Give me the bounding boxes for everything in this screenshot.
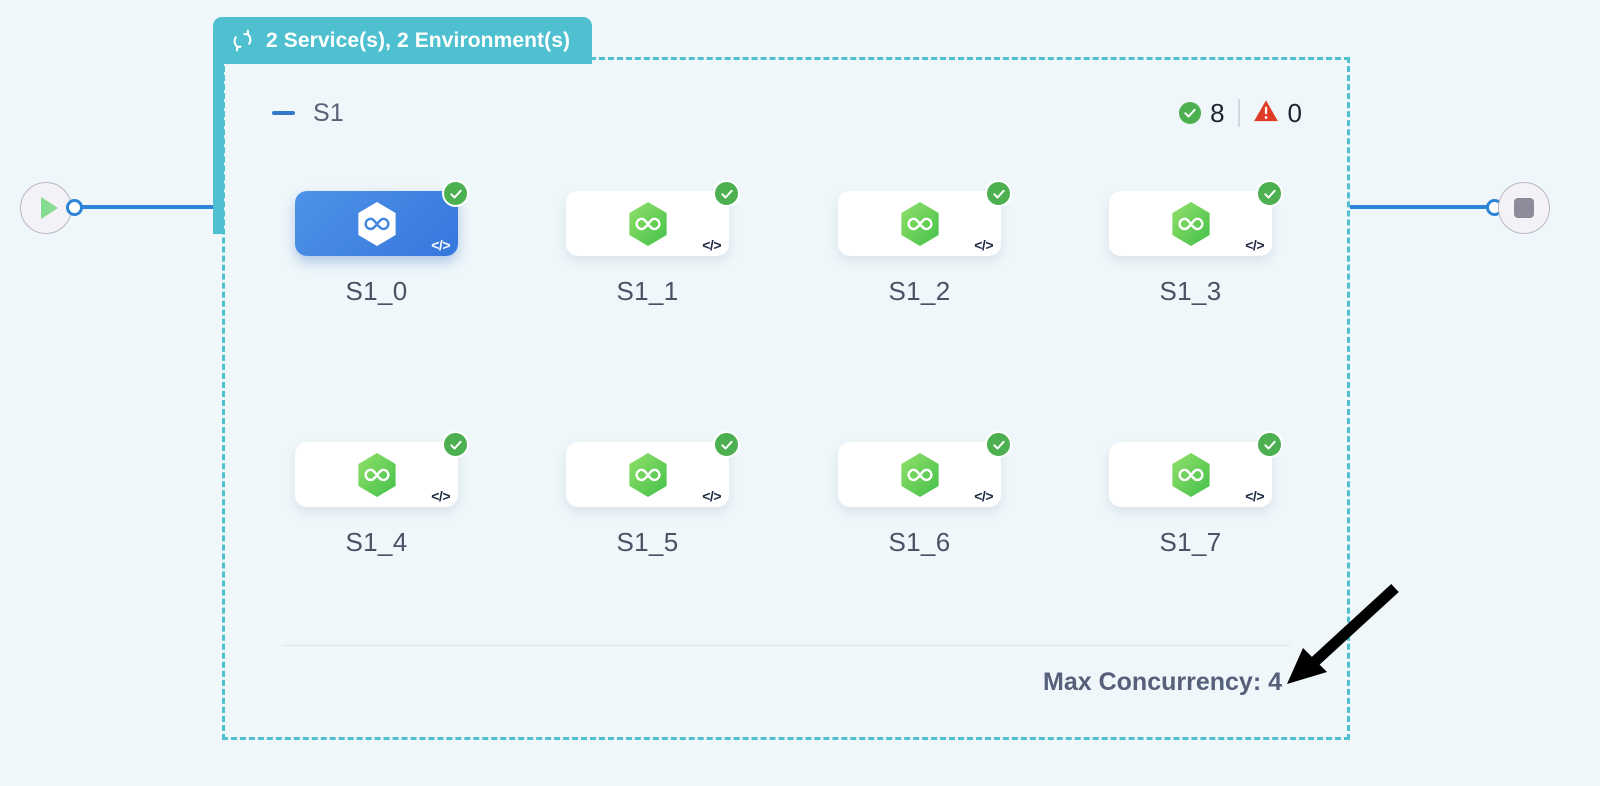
hexagon-loop-icon xyxy=(899,452,941,498)
hexagon-loop-icon xyxy=(899,201,941,247)
hexagon-loop-icon xyxy=(627,452,669,498)
group-header-left: S1 xyxy=(272,99,344,128)
service-node-s1_5[interactable]: </>S1_5 xyxy=(566,442,729,558)
service-node-s1_6[interactable]: </>S1_6 xyxy=(838,442,1001,558)
service-node-card[interactable]: </> xyxy=(295,191,458,256)
service-node-label: S1_2 xyxy=(838,276,1001,307)
service-node-label: S1_5 xyxy=(566,527,729,558)
service-node-s1_7[interactable]: </>S1_7 xyxy=(1109,442,1272,558)
end-node[interactable] xyxy=(1498,182,1550,234)
start-node[interactable] xyxy=(20,182,72,234)
hexagon-loop-icon xyxy=(356,201,398,247)
edge-group-to-end xyxy=(1345,205,1491,209)
group-left-spine xyxy=(213,58,224,234)
play-icon xyxy=(41,197,58,219)
service-node-label: S1_1 xyxy=(566,276,729,307)
hexagon-loop-icon xyxy=(627,201,669,247)
status-divider xyxy=(1238,99,1240,127)
service-node-card[interactable]: </> xyxy=(295,442,458,507)
group-container xyxy=(222,57,1350,740)
code-icon[interactable]: </> xyxy=(1245,488,1264,504)
service-node-s1_0[interactable]: </>S1_0 xyxy=(295,191,458,307)
hexagon-loop-icon xyxy=(1170,452,1212,498)
check-circle-icon xyxy=(985,180,1012,207)
check-circle-icon xyxy=(1256,431,1283,458)
hexagon-loop-icon xyxy=(356,452,398,498)
check-circle-icon xyxy=(1179,102,1201,124)
service-node-label: S1_6 xyxy=(838,527,1001,558)
check-circle-icon xyxy=(713,431,740,458)
service-node-s1_2[interactable]: </>S1_2 xyxy=(838,191,1001,307)
check-circle-icon xyxy=(442,180,469,207)
code-icon[interactable]: </> xyxy=(431,237,450,253)
status-success: 8 xyxy=(1179,98,1224,129)
hexagon-loop-icon xyxy=(1170,201,1212,247)
footer-divider xyxy=(282,645,1290,646)
check-circle-icon xyxy=(713,180,740,207)
status-error: 0 xyxy=(1253,98,1302,129)
code-icon[interactable]: </> xyxy=(1245,237,1264,253)
code-icon[interactable]: </> xyxy=(702,237,721,253)
code-icon[interactable]: </> xyxy=(431,488,450,504)
edge-start-to-group xyxy=(80,205,228,209)
service-node-s1_3[interactable]: </>S1_3 xyxy=(1109,191,1272,307)
service-node-label: S1_0 xyxy=(295,276,458,307)
warning-triangle-icon xyxy=(1253,99,1279,128)
stop-icon xyxy=(1514,198,1534,218)
service-node-label: S1_7 xyxy=(1109,527,1272,558)
check-circle-icon xyxy=(985,431,1012,458)
code-icon[interactable]: </> xyxy=(702,488,721,504)
code-icon[interactable]: </> xyxy=(974,237,993,253)
code-icon[interactable]: </> xyxy=(974,488,993,504)
repeat-loop-icon xyxy=(230,28,255,53)
max-concurrency-label: Max Concurrency: 4 xyxy=(1043,668,1282,697)
minus-icon[interactable] xyxy=(272,111,295,115)
check-circle-icon xyxy=(442,431,469,458)
group-header: S1 8 0 xyxy=(272,94,1302,132)
service-node-label: S1_3 xyxy=(1109,276,1272,307)
service-node-card[interactable]: </> xyxy=(838,191,1001,256)
service-node-s1_4[interactable]: </>S1_4 xyxy=(295,442,458,558)
service-node-card[interactable]: </> xyxy=(566,191,729,256)
service-node-card[interactable]: </> xyxy=(838,442,1001,507)
group-tab[interactable]: 2 Service(s), 2 Environment(s) xyxy=(213,17,592,64)
error-count: 0 xyxy=(1288,98,1302,129)
workflow-canvas: 2 Service(s), 2 Environment(s) S1 8 xyxy=(0,0,1600,786)
service-node-s1_1[interactable]: </>S1_1 xyxy=(566,191,729,307)
check-circle-icon xyxy=(1256,180,1283,207)
service-node-card[interactable]: </> xyxy=(1109,442,1272,507)
group-tab-label: 2 Service(s), 2 Environment(s) xyxy=(266,29,570,53)
service-node-card[interactable]: </> xyxy=(566,442,729,507)
group-status-summary: 8 0 xyxy=(1179,98,1302,129)
group-name: S1 xyxy=(313,99,344,128)
service-node-card[interactable]: </> xyxy=(1109,191,1272,256)
success-count: 8 xyxy=(1210,98,1224,129)
service-node-label: S1_4 xyxy=(295,527,458,558)
